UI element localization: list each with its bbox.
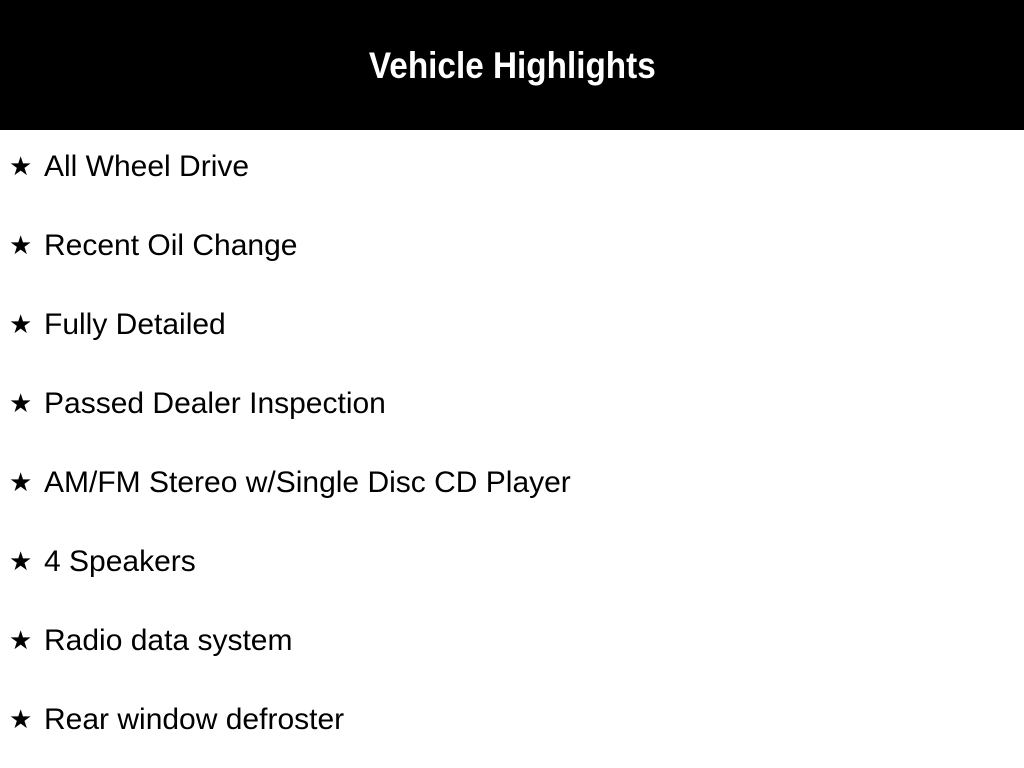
vehicle-highlights-page: Vehicle Highlights ★ All Wheel Drive ★ R… xyxy=(0,0,1024,768)
highlight-label: Recent Oil Change xyxy=(44,229,297,263)
highlight-label: 4 Speakers xyxy=(44,545,196,579)
list-item: ★ Recent Oil Change xyxy=(0,227,1024,265)
highlight-label: AM/FM Stereo w/Single Disc CD Player xyxy=(44,466,571,500)
page-title: Vehicle Highlights xyxy=(369,47,656,84)
list-item: ★ Radio data system xyxy=(0,622,1024,660)
list-item: ★ Fully Detailed xyxy=(0,306,1024,344)
highlight-label: Fully Detailed xyxy=(44,308,226,342)
star-icon: ★ xyxy=(9,231,39,261)
highlight-label: Passed Dealer Inspection xyxy=(44,387,386,421)
highlight-label: Rear window defroster xyxy=(44,703,344,737)
star-icon: ★ xyxy=(9,705,39,735)
highlight-label: Radio data system xyxy=(44,624,292,658)
vehicle-highlights-list: ★ All Wheel Drive ★ Recent Oil Change ★ … xyxy=(0,130,1024,768)
star-icon: ★ xyxy=(9,468,39,498)
highlight-label: All Wheel Drive xyxy=(44,150,249,184)
list-item: ★ 4 Speakers xyxy=(0,543,1024,581)
list-item: ★ Passed Dealer Inspection xyxy=(0,385,1024,423)
page-header: Vehicle Highlights xyxy=(0,0,1024,130)
list-item: ★ All Wheel Drive xyxy=(0,148,1024,186)
list-item: ★ AM/FM Stereo w/Single Disc CD Player xyxy=(0,464,1024,502)
star-icon: ★ xyxy=(9,152,39,182)
star-icon: ★ xyxy=(9,547,39,577)
list-item: ★ Rear window defroster xyxy=(0,701,1024,739)
star-icon: ★ xyxy=(9,626,39,656)
star-icon: ★ xyxy=(9,310,39,340)
star-icon: ★ xyxy=(9,389,39,419)
